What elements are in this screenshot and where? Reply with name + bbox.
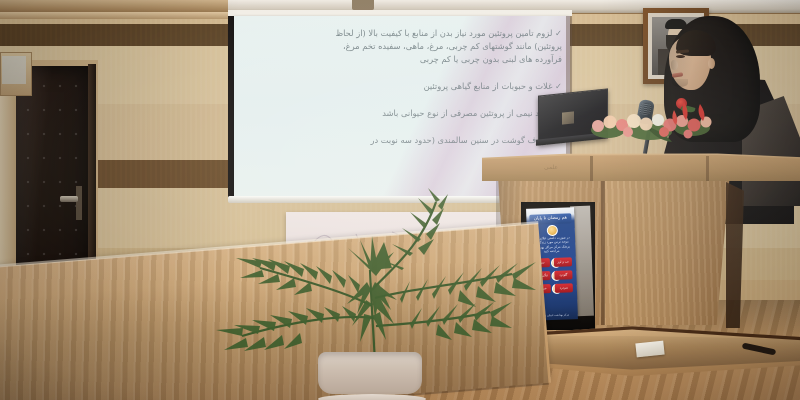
ambient-shading — [0, 0, 800, 400]
conference-room-photo: ✓ لزوم تامین پروتئین مورد نیاز بدن از من… — [0, 0, 800, 400]
